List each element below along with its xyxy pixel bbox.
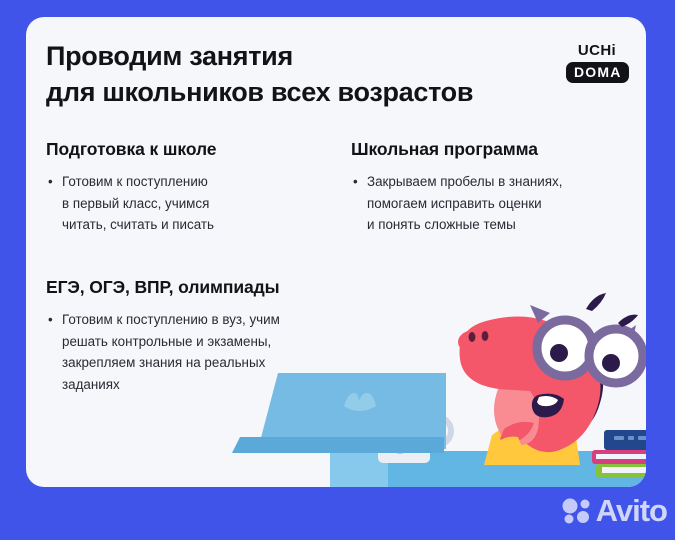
avito-watermark-text: Avito <box>596 495 667 526</box>
bullet-line: Закрываем пробелы в знаниях, <box>367 171 641 193</box>
section-prep-title: Подготовка к школе <box>46 139 346 160</box>
desk-surface <box>330 451 646 487</box>
section-prep: Подготовка к школе • Готовим к поступлен… <box>46 139 346 236</box>
list-item: • Готовим к поступлению в вуз, учим реша… <box>46 309 376 396</box>
page-title: Проводим занятия для школьников всех воз… <box>46 39 466 110</box>
avito-watermark: Avito <box>562 495 667 526</box>
section-school-title: Школьная программа <box>351 139 641 160</box>
bullet-dot-icon: • <box>353 171 358 193</box>
content-card: Проводим занятия для школьников всех воз… <box>26 17 646 487</box>
headline-line-2: для школьников всех возрастов <box>46 75 466 111</box>
mug-dino-art <box>380 419 415 454</box>
section-prep-bullets: • Готовим к поступлению в первый класс, … <box>46 171 346 236</box>
brand-logo: UCHi DOMA <box>566 43 628 83</box>
section-exams: ЕГЭ, ОГЭ, ВПР, олимпиады • Готовим к пос… <box>46 277 376 396</box>
logo-word-uchi: UCHi <box>566 43 628 58</box>
headline-line-1: Проводим занятия <box>46 39 466 75</box>
section-school: Школьная программа • Закрываем пробелы в… <box>351 139 641 236</box>
section-exams-bullets: • Готовим к поступлению в вуз, учим реша… <box>46 309 376 396</box>
bullet-line: решать контрольные и экзамены, <box>62 331 376 353</box>
bullet-dot-icon: • <box>48 171 53 193</box>
section-exams-title: ЕГЭ, ОГЭ, ВПР, олимпиады <box>46 277 376 298</box>
logo-badge-doma: DOMA <box>566 62 629 83</box>
mug-icon <box>378 402 451 463</box>
book-stack-icon <box>592 430 646 478</box>
glasses-icon <box>530 305 643 383</box>
bullet-line: Готовим к поступлению <box>62 171 346 193</box>
bullet-dot-icon: • <box>48 309 53 331</box>
bullet-line: Готовим к поступлению в вуз, учим <box>62 309 376 331</box>
poster-canvas: Проводим занятия для школьников всех воз… <box>0 0 675 540</box>
avito-dots-icon <box>562 498 592 524</box>
bullet-line: закрепляем знания на реальных <box>62 352 376 374</box>
bullet-line: в первый класс, учимся <box>62 193 346 215</box>
eyebrow-tufts <box>586 293 638 327</box>
bullet-line: помогаем исправить оценки <box>367 193 641 215</box>
dinosaur-character <box>458 293 643 465</box>
steam-icon <box>382 385 397 429</box>
section-school-bullets: • Закрываем пробелы в знаниях, помогаем … <box>351 171 641 236</box>
list-item: • Готовим к поступлению в первый класс, … <box>46 171 346 236</box>
bullet-line: читать, считать и писать <box>62 214 346 236</box>
bullet-line: заданиях <box>62 374 376 396</box>
bullet-line: и понять сложные темы <box>367 214 641 236</box>
list-item: • Закрываем пробелы в знаниях, помогаем … <box>351 171 641 236</box>
